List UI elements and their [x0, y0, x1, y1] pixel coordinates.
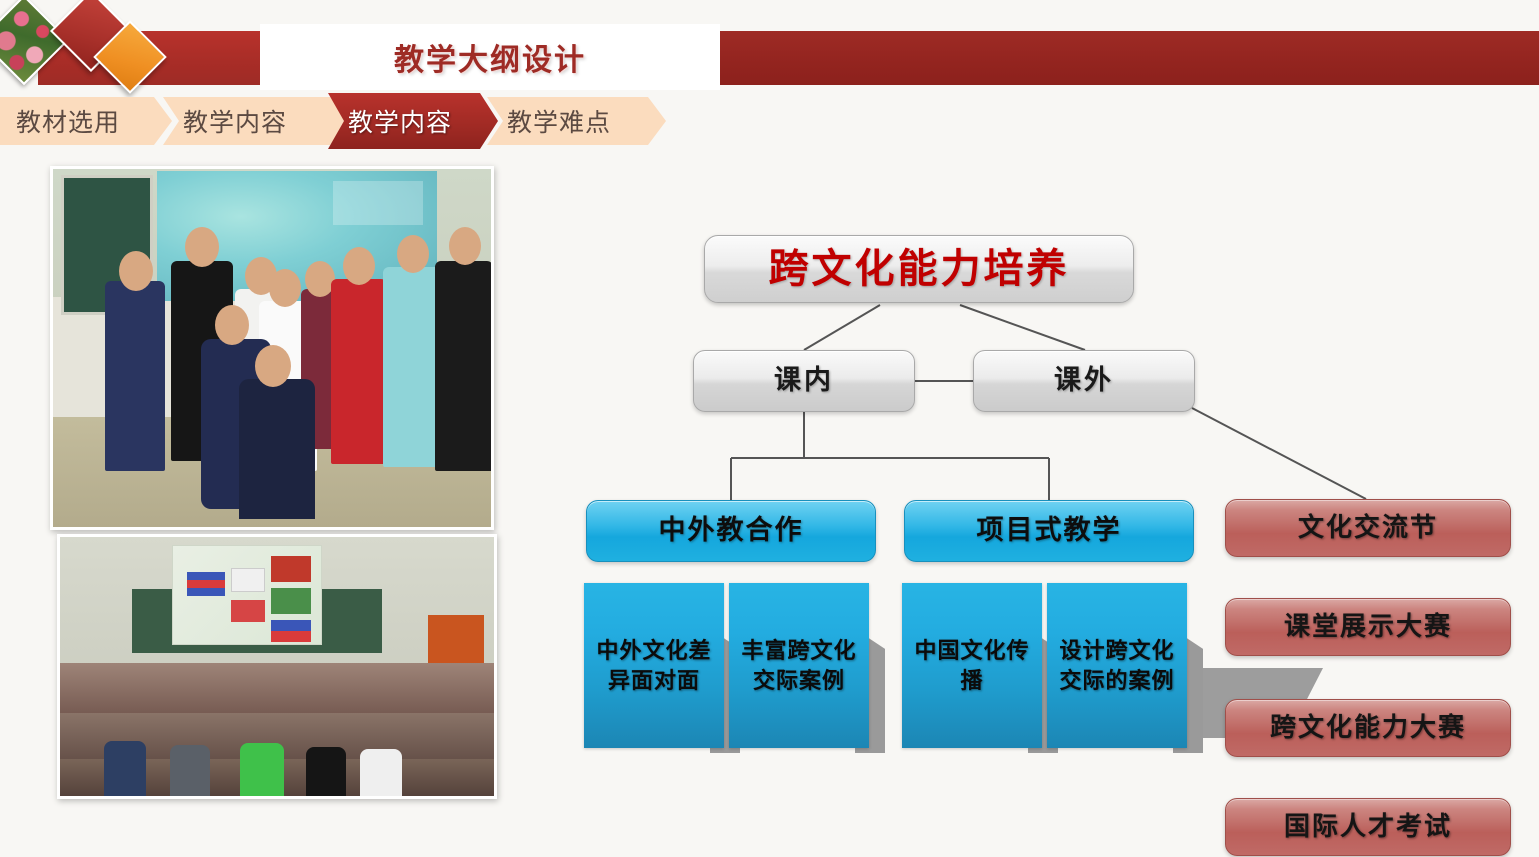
diagram-blue-node-xiangmushijiaoxue[interactable]: 项目式教学	[904, 500, 1194, 562]
diagram-red-node-ketangzhanshidasai[interactable]: 课堂展示大赛	[1225, 598, 1511, 656]
leaf-label-3: 中国文化传播	[902, 583, 1042, 748]
classroom-group-photo-top	[50, 166, 494, 530]
classroom-group-photo-bottom	[57, 534, 497, 799]
tab-jiaoxuenandian[interactable]: 教学难点	[487, 97, 666, 145]
tab-jiaoxueneirong-2[interactable]: 教学内容	[328, 93, 498, 149]
tab-jiaocaixuanyong[interactable]: 教材选用	[0, 97, 172, 145]
page-header: 教学大纲设计	[0, 0, 1539, 95]
diagram-branch-kenei[interactable]: 课内	[693, 350, 915, 412]
diagram-blue-node-zhongwaijiaohezuo[interactable]: 中外教合作	[586, 500, 876, 562]
diagram-red-node-kuawenhuanenglidasai[interactable]: 跨文化能力大赛	[1225, 699, 1511, 757]
tab-jiaoxueneirong-1[interactable]: 教学内容	[163, 97, 348, 145]
diagram-leaf-4[interactable]: 设计跨文化交际的案例	[1047, 583, 1195, 753]
diagram-leaf-3[interactable]: 中国文化传播	[902, 583, 1050, 753]
diagram-leaf-2[interactable]: 丰富跨文化交际案例	[729, 583, 877, 753]
leaf-label-2: 丰富跨文化交际案例	[729, 583, 869, 748]
header-banner-right	[705, 31, 1539, 85]
diagram-red-node-wenhuajiaoliujie[interactable]: 文化交流节	[1225, 499, 1511, 557]
diagram-branch-kewai[interactable]: 课外	[973, 350, 1195, 412]
diagram-red-node-guojirencaikaoshi[interactable]: 国际人才考试	[1225, 798, 1511, 856]
diagram-leaf-1[interactable]: 中外文化差异面对面	[584, 583, 732, 753]
diagram-root-node[interactable]: 跨文化能力培养	[704, 235, 1134, 303]
page-title: 教学大纲设计	[260, 24, 720, 90]
leaf-label-1: 中外文化差异面对面	[584, 583, 724, 748]
org-chart-diagram: 跨文化能力培养 课内 课外 中外教合作 项目式教学 中外文化差异面对面 丰富跨文…	[540, 150, 1539, 857]
leaf-label-4: 设计跨文化交际的案例	[1047, 583, 1187, 748]
